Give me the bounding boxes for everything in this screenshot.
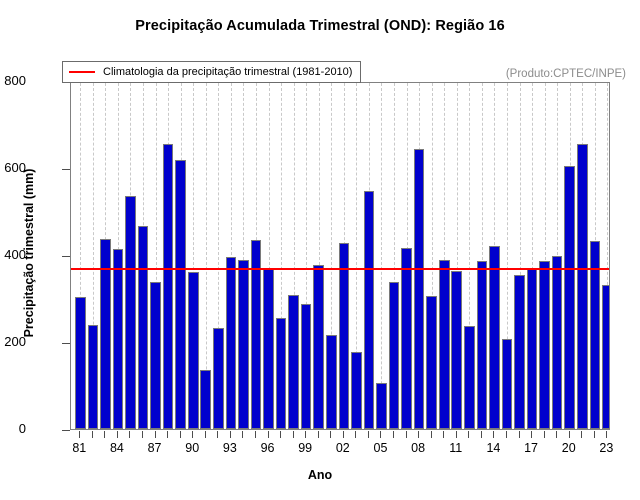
bar [464, 326, 475, 429]
x-tick-mark [205, 431, 206, 438]
x-tick-mark [330, 431, 331, 438]
bar [426, 296, 437, 429]
y-tick-label: 200 [0, 334, 26, 349]
plot-area [70, 82, 610, 430]
bar [88, 325, 99, 429]
x-tick-mark [581, 431, 582, 438]
bar [401, 248, 412, 429]
x-tick-label: 08 [403, 441, 433, 455]
x-tick-mark [418, 431, 419, 438]
x-tick-mark [606, 431, 607, 438]
bar [389, 282, 400, 429]
x-tick-label: 93 [215, 441, 245, 455]
bar [577, 144, 588, 429]
bar [125, 196, 136, 429]
x-tick-mark [368, 431, 369, 438]
bar [200, 370, 211, 429]
bar [238, 260, 249, 429]
climatology-reference-line [71, 268, 609, 270]
x-tick-mark [129, 431, 130, 438]
x-tick-mark [355, 431, 356, 438]
x-tick-mark [142, 431, 143, 438]
bar [414, 149, 425, 429]
x-tick-mark [406, 431, 407, 438]
x-tick-mark [280, 431, 281, 438]
x-tick-mark [79, 431, 80, 438]
product-note: (Produto:CPTEC/INPE) [506, 68, 626, 80]
x-tick-label: 81 [64, 441, 94, 455]
x-tick-label: 20 [554, 441, 584, 455]
bar [564, 166, 575, 429]
bar [263, 269, 274, 429]
x-tick-label: 84 [102, 441, 132, 455]
x-tick-label: 02 [328, 441, 358, 455]
y-tick-mark [62, 256, 70, 257]
bar [313, 265, 324, 429]
bar [502, 339, 513, 429]
bar [451, 271, 462, 429]
x-tick-mark [569, 431, 570, 438]
x-tick-mark [305, 431, 306, 438]
y-tick-label: 0 [0, 421, 26, 436]
x-tick-mark [443, 431, 444, 438]
precipitation-bar-chart: Precipitação Acumulada Trimestral (OND):… [0, 0, 640, 500]
bar [213, 328, 224, 429]
x-tick-mark [167, 431, 168, 438]
gridline-vertical [381, 83, 383, 429]
x-tick-mark [393, 431, 394, 438]
x-tick-label: 14 [478, 441, 508, 455]
x-tick-label: 05 [365, 441, 395, 455]
x-tick-mark [318, 431, 319, 438]
chart-title: Precipitação Acumulada Trimestral (OND):… [0, 18, 640, 34]
bar [288, 295, 299, 429]
bar [175, 160, 186, 429]
bar [113, 249, 124, 429]
x-tick-mark [343, 431, 344, 438]
x-tick-mark [180, 431, 181, 438]
bar [75, 297, 86, 429]
x-tick-label: 90 [177, 441, 207, 455]
x-tick-mark [594, 431, 595, 438]
x-tick-mark [380, 431, 381, 438]
x-tick-mark [117, 431, 118, 438]
x-tick-mark [104, 431, 105, 438]
bar [351, 352, 362, 429]
y-tick-mark [62, 343, 70, 344]
x-tick-mark [544, 431, 545, 438]
y-tick-label: 600 [0, 160, 26, 175]
bar [339, 243, 350, 429]
x-tick-mark [155, 431, 156, 438]
bar [514, 275, 525, 429]
x-tick-label: 87 [140, 441, 170, 455]
legend-line-swatch-icon [69, 71, 95, 73]
x-tick-mark [431, 431, 432, 438]
bar [489, 246, 500, 429]
x-axis-label: Ano [0, 468, 640, 482]
x-tick-mark [92, 431, 93, 438]
bar [226, 257, 237, 429]
x-tick-mark [255, 431, 256, 438]
legend: Climatologia da precipitação trimestral … [62, 61, 361, 83]
legend-label: Climatologia da precipitação trimestral … [103, 66, 352, 78]
bar [326, 335, 337, 429]
x-tick-mark [268, 431, 269, 438]
y-tick-label: 800 [0, 73, 26, 88]
bar [276, 318, 287, 429]
x-tick-mark [456, 431, 457, 438]
x-tick-label: 17 [516, 441, 546, 455]
x-tick-label: 96 [253, 441, 283, 455]
x-tick-mark [519, 431, 520, 438]
y-tick-mark [62, 169, 70, 170]
x-tick-mark [506, 431, 507, 438]
x-tick-mark [242, 431, 243, 438]
bar [364, 191, 375, 429]
bar [163, 144, 174, 429]
x-tick-mark [556, 431, 557, 438]
bar [138, 226, 149, 429]
bar [301, 304, 312, 429]
bar [552, 256, 563, 429]
bar [602, 285, 610, 429]
x-tick-mark [531, 431, 532, 438]
x-tick-label: 99 [290, 441, 320, 455]
x-tick-label: 23 [591, 441, 621, 455]
x-tick-mark [217, 431, 218, 438]
x-tick-mark [493, 431, 494, 438]
x-tick-mark [468, 431, 469, 438]
bar [527, 268, 538, 429]
bar [188, 272, 199, 429]
y-tick-label: 400 [0, 247, 26, 262]
x-tick-mark [481, 431, 482, 438]
y-tick-mark [62, 430, 70, 431]
x-tick-label: 11 [441, 441, 471, 455]
bar [150, 282, 161, 429]
x-tick-mark [192, 431, 193, 438]
bar [439, 260, 450, 429]
x-tick-mark [293, 431, 294, 438]
bar [376, 383, 387, 429]
x-tick-mark [230, 431, 231, 438]
bar [477, 261, 488, 429]
bar [539, 261, 550, 429]
